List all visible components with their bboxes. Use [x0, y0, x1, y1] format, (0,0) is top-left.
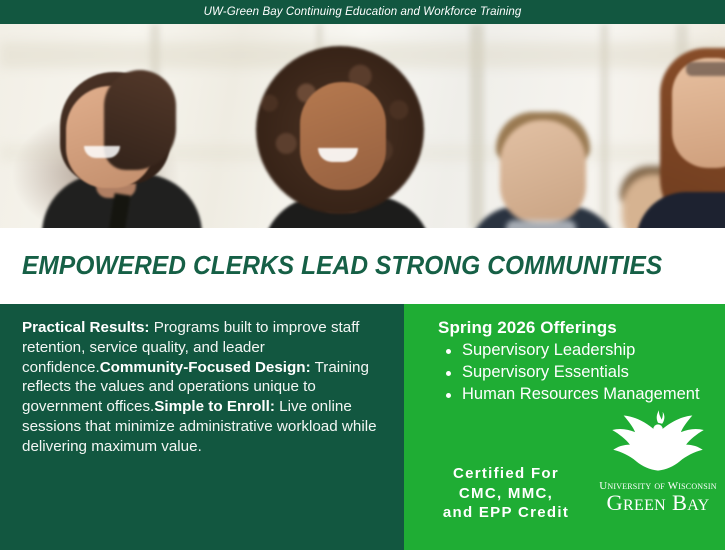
offerings-list: Supervisory Leadership Supervisory Essen… [416, 340, 715, 406]
offerings-title: Spring 2026 Offerings [438, 318, 715, 338]
certification-line-2: CMC, MMC, [412, 484, 600, 504]
certification-note: Certified For CMC, MMC, and EPP Credit [412, 464, 600, 523]
list-item-label: Supervisory Leadership [462, 341, 635, 359]
benefits-copy: Practical Results: Programs built to imp… [22, 318, 386, 456]
certification-line-3: and EPP Credit [412, 503, 600, 523]
uwgb-logo: University of Wisconsin Green Bay [599, 402, 717, 544]
headline-area: EMPOWERED CLERKS LEAD STRONG COMMUNITIES [0, 228, 725, 304]
hero-photo [0, 24, 725, 228]
bullet-icon [446, 349, 451, 354]
list-item[interactable]: Supervisory Leadership [462, 340, 715, 362]
top-banner-text: UW-Green Bay Continuing Education and Wo… [204, 6, 522, 18]
phoenix-icon [606, 402, 710, 482]
bullet-icon [446, 371, 451, 376]
certification-line-1: Certified For [412, 464, 600, 484]
benefit-lead-2: Community-Focused Design: [100, 359, 311, 376]
benefit-lead-1: Practical Results: [22, 319, 149, 336]
list-item[interactable]: Supervisory Essentials [462, 362, 715, 384]
top-banner: UW-Green Bay Continuing Education and Wo… [0, 0, 725, 24]
benefit-lead-3: Simple to Enroll: [154, 398, 275, 415]
list-item-label: Human Resources Management [462, 385, 700, 403]
list-item-label: Supervisory Essentials [462, 363, 629, 381]
bullet-icon [446, 393, 451, 398]
logo-wordmark-line2: Green Bay [607, 492, 710, 515]
benefits-panel: Practical Results: Programs built to imp… [0, 304, 404, 550]
page-title: EMPOWERED CLERKS LEAD STRONG COMMUNITIES [22, 252, 662, 281]
offerings-panel: Spring 2026 Offerings Supervisory Leader… [404, 304, 725, 550]
content-panels: Practical Results: Programs built to imp… [0, 304, 725, 550]
marketing-poster: UW-Green Bay Continuing Education and Wo… [0, 0, 725, 550]
